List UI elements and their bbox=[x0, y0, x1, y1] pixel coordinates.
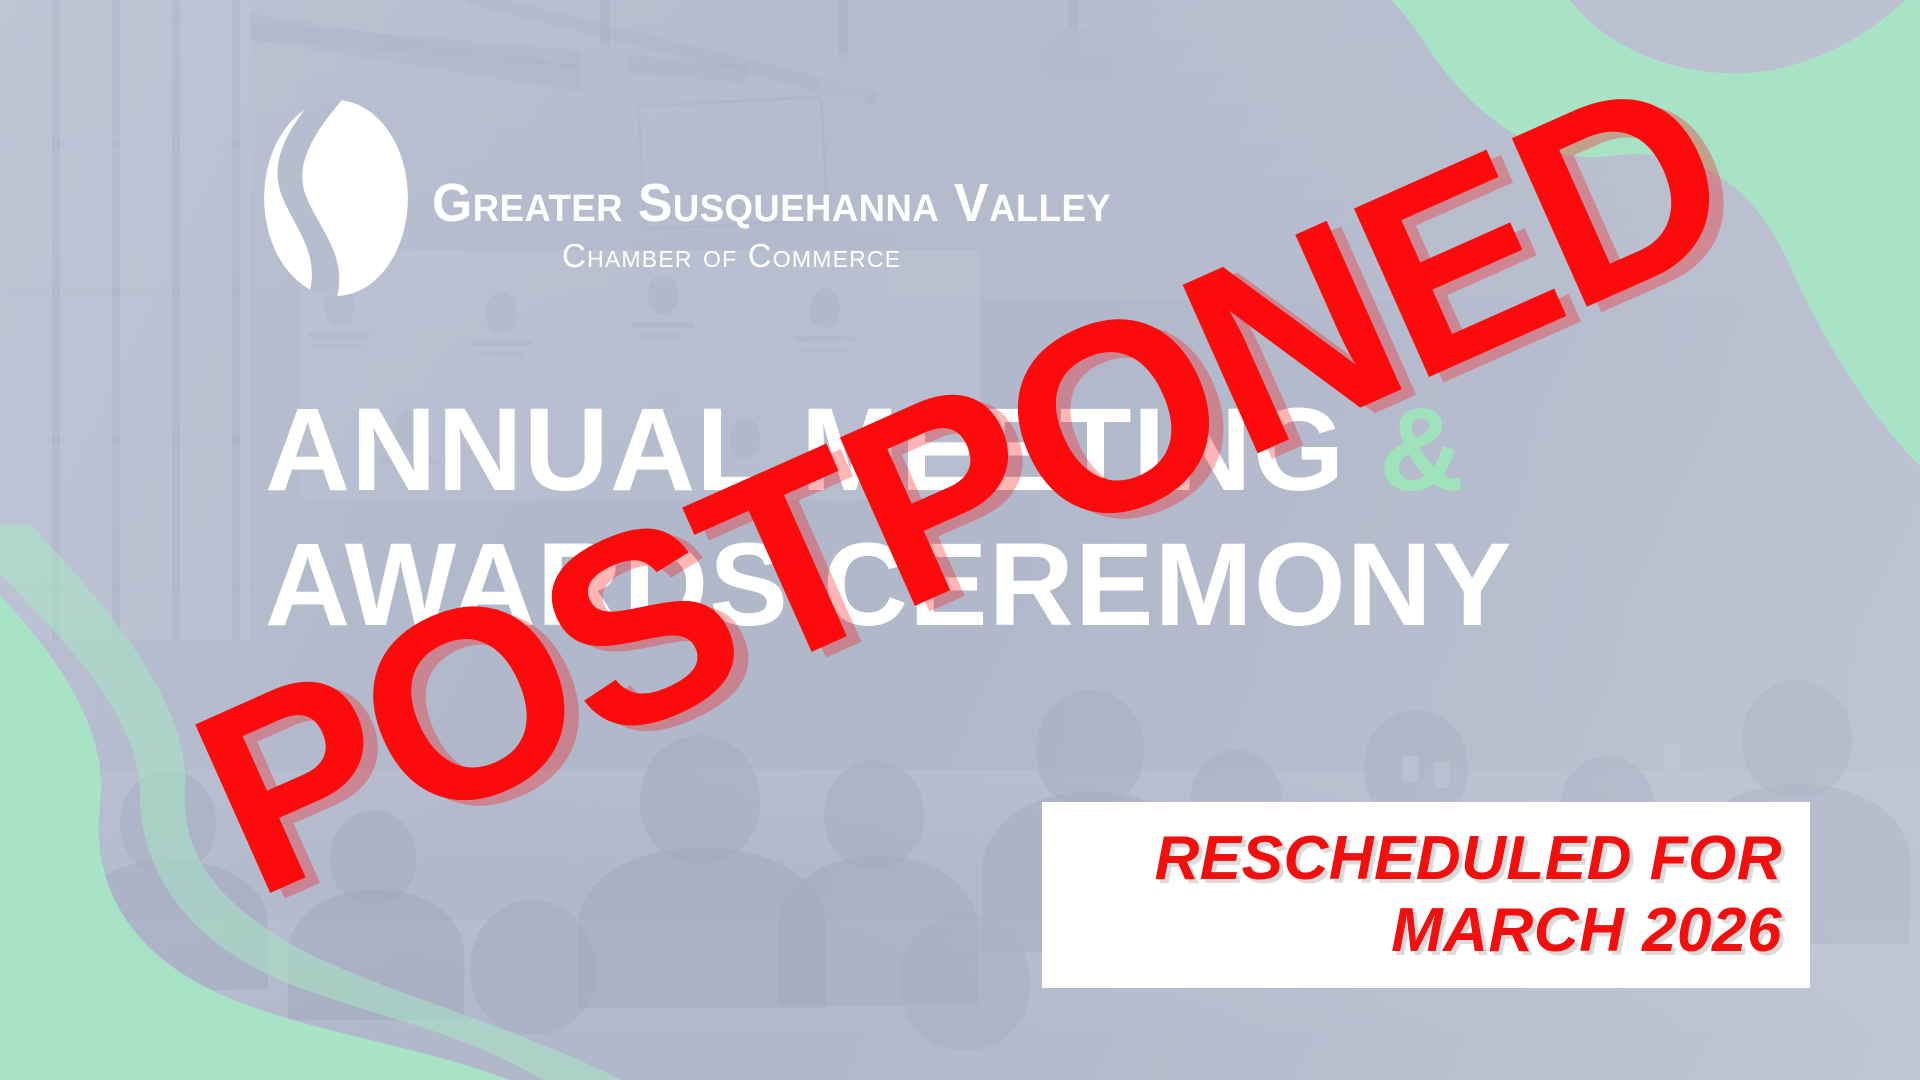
rescheduled-line-2: MARCH 2026 bbox=[1391, 895, 1782, 967]
rescheduled-line-1: RESCHEDULED FOR bbox=[1154, 823, 1782, 895]
event-title-line2: AWARDS CEREMONY bbox=[265, 527, 1685, 644]
chamber-logo-wordmark: Greater Susquehanna Valley Chamber of Co… bbox=[432, 176, 1139, 272]
event-title-line1: ANNUAL MEETING & bbox=[265, 392, 1685, 509]
event-title: ANNUAL MEETING & AWARDS CEREMONY bbox=[265, 392, 1685, 644]
event-title-line1-text: ANNUAL MEETING bbox=[265, 384, 1379, 516]
chamber-name-line1: Greater Susquehanna Valley bbox=[432, 176, 1111, 230]
chamber-name-line2: Chamber of Commerce bbox=[432, 239, 1139, 272]
rescheduled-notice-box: RESCHEDULED FOR MARCH 2026 bbox=[1042, 802, 1810, 988]
event-announcement-graphic: Greater Susquehanna Valley Chamber of Co… bbox=[0, 0, 1920, 1080]
chamber-s-oval-logo-icon bbox=[262, 98, 410, 298]
ampersand-glyph: & bbox=[1379, 384, 1465, 516]
chamber-logo: Greater Susquehanna Valley Chamber of Co… bbox=[262, 98, 1139, 298]
